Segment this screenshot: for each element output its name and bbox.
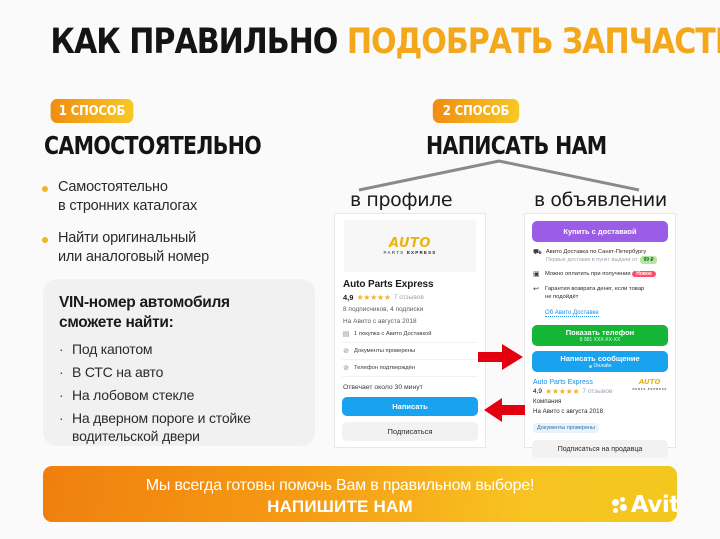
list-item: · В СТС на авто xyxy=(59,363,299,381)
list-item: Найти оригинальный или аналоговый номер xyxy=(42,229,322,267)
check-circle-icon: ⊘ xyxy=(342,347,350,355)
profile-followers: 8 подписчиков, 4 подписки xyxy=(343,305,485,314)
shop-logo-main: AUTO xyxy=(383,238,436,250)
bullet-dot-icon xyxy=(42,186,48,192)
vin-item-text: Под капотом xyxy=(72,340,152,358)
bullet-dot-icon: · xyxy=(59,340,64,358)
arrow-right-icon xyxy=(478,344,524,370)
payment-label: Можно оплатить при получении xyxy=(545,271,631,277)
delivery-text: Можно оплатить при получении Новое xyxy=(545,270,656,278)
shop-logo-sub-left: PARTS xyxy=(383,250,404,255)
price-badge: 99 ₽ xyxy=(640,256,656,264)
delivery-price-row: Первые доставки в пункт выдачи от 99 ₽ xyxy=(546,256,657,264)
avito-wordmark: Avito xyxy=(631,492,677,518)
bullet-text: Найти оригинальный или аналоговый номер xyxy=(58,229,209,267)
about-delivery-link[interactable]: Об Авито Доставке xyxy=(545,310,599,317)
arrow-left-icon xyxy=(484,398,526,422)
profile-rating-row: 4,9 ★★★★★ 7 отзывов xyxy=(343,293,485,302)
vin-item-text: На лобовом стекле xyxy=(72,386,194,404)
delivery-price-label: Первые доставки в пункт выдачи от xyxy=(546,256,638,264)
seller-logo: AUTO PARTS EXPRESS xyxy=(632,379,667,393)
chip-label: 1 покупка с Авито Доставкой xyxy=(354,331,432,337)
bullet-dot-icon: · xyxy=(59,409,64,427)
follow-button[interactable]: Подписаться xyxy=(342,422,478,441)
page-title-yellow: ПОДОБРАТЬ ЗАПЧАСТЬ? xyxy=(347,22,720,62)
profile-name: Auto Parts Express xyxy=(343,279,485,290)
buy-with-delivery-button[interactable]: Купить с доставкой xyxy=(532,221,668,242)
ad-card: Купить с доставкой ⛟ Авито Доставка по С… xyxy=(524,213,676,448)
seller-rating-value: 4,9 xyxy=(533,388,542,395)
profile-card: AUTO PARTS EXPRESS Auto Parts Express 4,… xyxy=(334,213,486,448)
chip-label: Документы проверены xyxy=(354,348,415,354)
seller-block: AUTO PARTS EXPRESS Auto Parts Express 4,… xyxy=(533,379,667,434)
badge-way-1: 1 СПОСОБ xyxy=(51,99,134,123)
show-phone-button[interactable]: Показать телефон 8 981 XXX-XX-XX xyxy=(532,325,668,346)
online-status: Онлайн xyxy=(589,363,612,369)
bullet-dot-icon: · xyxy=(59,363,64,381)
truck-icon: ⛟ xyxy=(533,248,542,257)
connector-chevron-icon xyxy=(355,158,645,192)
seller-logo-sub: PARTS EXPRESS xyxy=(632,386,667,393)
bullet-text: Самостоятельно в стронних каталогах xyxy=(58,178,197,216)
profile-reply-time: Отвечает около 30 минут xyxy=(343,384,485,391)
check-circle-icon: ⊘ xyxy=(342,364,350,372)
list-item: · Под капотом xyxy=(59,340,299,358)
profile-chip-documents: ⊘ Документы проверены xyxy=(342,343,478,360)
phone-number: 8 981 XXX-XX-XX xyxy=(580,337,621,343)
bullet-dot-icon: · xyxy=(59,386,64,404)
avito-dots-icon xyxy=(612,497,629,514)
profile-chip-purchases: ▤ 1 покупка с Авито Доставкой xyxy=(342,326,478,343)
show-phone-label: Показать телефон xyxy=(566,328,634,337)
delivery-city-label: Авито Доставка по Санкт-Петербургу xyxy=(546,249,646,255)
cart-icon: ▤ xyxy=(342,330,350,338)
seller-logo-main: AUTO xyxy=(632,379,667,386)
write-message-label: Написать сообщение xyxy=(560,354,639,363)
cta-banner: Мы всегда готовы помочь Вам в правильном… xyxy=(43,466,677,522)
way-2-heading: НАПИСАТЬ НАМ xyxy=(426,131,607,160)
page-title-black: КАК ПРАВИЛЬНО xyxy=(50,22,346,62)
rating-stars-icon: ★★★★★ xyxy=(545,387,579,396)
cta-line-2: НАПИШИТЕ НАМ xyxy=(43,497,677,517)
online-dot-icon xyxy=(589,365,592,368)
shop-logo-sub: PARTS EXPRESS xyxy=(383,250,436,255)
delivery-row-guarantee: ↩ Гарантия возврата денег, если товар не… xyxy=(533,285,667,301)
column-label-profile: в профиле xyxy=(350,189,452,211)
rating-value: 4,9 xyxy=(343,293,353,302)
delivery-text: Авито Доставка по Санкт-Петербургу Первы… xyxy=(546,248,657,264)
vin-item-text: На дверном пороге и стойке водительской … xyxy=(72,409,251,445)
cta-line-1: Мы всегда готовы помочь Вам в правильном… xyxy=(43,477,677,495)
way-1-bullets: Самостоятельно в стронних каталогах Найт… xyxy=(42,178,322,280)
chip-label: Телефон подтверждён xyxy=(354,365,415,371)
vin-card-title: VIN-номер автомобиля сможете найти: xyxy=(59,293,299,333)
vin-info-card: VIN-номер автомобиля сможете найти: · По… xyxy=(43,279,315,446)
write-message-button[interactable]: Написать xyxy=(342,397,478,416)
write-message-button-ad[interactable]: Написать сообщение Онлайн xyxy=(532,351,668,372)
reviews-count[interactable]: 7 отзывов xyxy=(394,294,424,301)
rating-stars-icon: ★★★★★ xyxy=(356,293,390,302)
bullet-dot-icon xyxy=(42,237,48,243)
seller-documents-badge: Документы проверены xyxy=(533,423,599,433)
seller-type: Компания xyxy=(533,397,667,406)
seller-reviews-count[interactable]: 7 отзывов xyxy=(582,388,612,395)
new-badge: Новое xyxy=(632,271,656,277)
delivery-row-payment: ▣ Можно оплатить при получении Новое xyxy=(533,270,667,279)
list-item: · На дверном пороге и стойке водительско… xyxy=(59,409,299,445)
page-title: КАК ПРАВИЛЬНО ПОДОБРАТЬ ЗАПЧАСТЬ? xyxy=(50,22,669,62)
way-1-heading: САМОСТОЯТЕЛЬНО xyxy=(44,131,261,160)
profile-chip-phone: ⊘ Телефон подтверждён xyxy=(342,360,478,377)
return-icon: ↩ xyxy=(533,285,541,294)
list-item: Самостоятельно в стронних каталогах xyxy=(42,178,322,216)
profile-since: На Авито с августа 2018 xyxy=(343,317,485,326)
shop-logo-sub-right: EXPRESS xyxy=(407,250,437,255)
shop-logo: AUTO PARTS EXPRESS xyxy=(344,220,476,272)
badge-way-2: 2 СПОСОБ xyxy=(433,99,519,123)
online-label: Онлайн xyxy=(594,363,612,369)
vin-item-text: В СТС на авто xyxy=(72,363,163,381)
follow-seller-button[interactable]: Подписаться на продавца xyxy=(532,440,668,458)
list-item: · На лобовом стекле xyxy=(59,386,299,404)
wallet-icon: ▣ xyxy=(533,270,541,279)
guarantee-label: Гарантия возврата денег, если товар не п… xyxy=(545,285,644,301)
delivery-row-city: ⛟ Авито Доставка по Санкт-Петербургу Пер… xyxy=(533,248,667,264)
poster-root: КАК ПРАВИЛЬНО ПОДОБРАТЬ ЗАПЧАСТЬ? 1 СПОС… xyxy=(0,0,720,539)
seller-since: На Авито с августа 2018 xyxy=(533,407,667,416)
avito-logo: Avito xyxy=(612,492,677,518)
column-label-ad: в объявлении xyxy=(534,189,667,211)
